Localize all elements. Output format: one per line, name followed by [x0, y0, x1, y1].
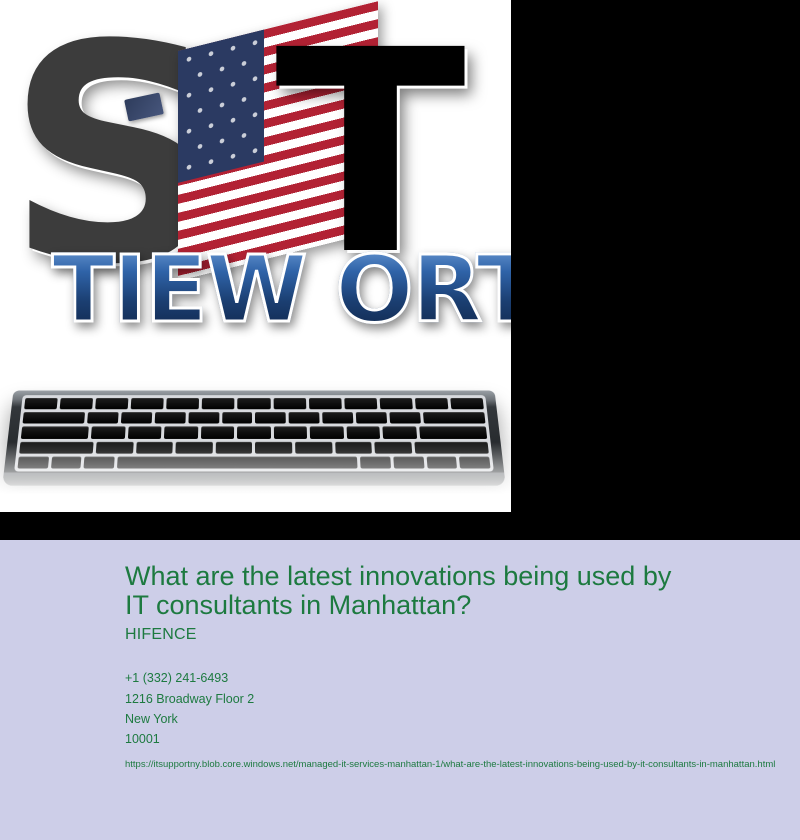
- keyboard-illustration: [2, 391, 505, 486]
- keyboard-key: [346, 427, 380, 439]
- contact-block: +1 (332) 241-6493 1216 Broadway Floor 2 …: [125, 668, 784, 776]
- page-title: What are the latest innovations being us…: [125, 562, 685, 620]
- keyboard-key: [459, 456, 490, 468]
- keyboard-key: [84, 456, 115, 468]
- keyboard-key: [426, 456, 457, 468]
- keyboard-key: [87, 412, 118, 424]
- keyboard-key: [24, 398, 58, 409]
- source-url-link[interactable]: https://itsupportny.blob.core.windows.ne…: [125, 754, 784, 776]
- keyboard-base: [2, 473, 505, 486]
- keyboard-key: [309, 398, 342, 409]
- keyboard-key: [60, 398, 94, 409]
- keyboard-key: [51, 456, 82, 468]
- keyboard-key: [379, 398, 412, 409]
- keyboard-key: [136, 441, 173, 453]
- keyboard-key: [295, 441, 332, 453]
- hero-band: S T TIEW ORT: [0, 0, 800, 540]
- keyboard-keys: [14, 395, 494, 471]
- keyboard-key: [202, 398, 235, 409]
- keyboard-key: [322, 412, 353, 424]
- keyboard-key: [360, 456, 391, 468]
- keyboard-key: [415, 398, 449, 409]
- keyboard-key: [255, 412, 286, 424]
- keyboard-key: [255, 441, 292, 453]
- contact-phone[interactable]: +1 (332) 241-6493: [125, 668, 784, 688]
- keyboard-key: [274, 427, 308, 439]
- contact-postal-code: 10001: [125, 729, 784, 749]
- logo-wordmark: TIEW ORT: [52, 244, 511, 336]
- keyboard-key: [188, 412, 219, 424]
- keyboard-key: [154, 412, 185, 424]
- keyboard-key: [19, 441, 94, 453]
- keyboard-key: [201, 427, 235, 439]
- keyboard-key: [289, 412, 320, 424]
- keyboard-key: [21, 427, 89, 439]
- keyboard-row: [24, 398, 484, 409]
- keyboard-key: [128, 427, 162, 439]
- keyboard-key: [22, 412, 84, 424]
- keyboard-key: [383, 427, 417, 439]
- keyboard-key: [423, 412, 485, 424]
- keyboard-key: [237, 427, 271, 439]
- keyboard-key: [166, 398, 199, 409]
- brand-name: HIFENCE: [125, 626, 784, 644]
- keyboard-space-key: [117, 456, 358, 468]
- keyboard-key: [390, 412, 421, 424]
- keyboard-key: [96, 441, 134, 453]
- contact-city: New York: [125, 709, 784, 729]
- keyboard-key: [222, 412, 253, 424]
- hero-logo-image: S T TIEW ORT: [0, 0, 511, 512]
- keyboard-key: [335, 441, 372, 453]
- content-panel: What are the latest innovations being us…: [0, 540, 800, 840]
- flag-canton: [178, 29, 264, 182]
- keyboard-key: [238, 398, 271, 409]
- keyboard-key: [216, 441, 253, 453]
- keyboard-row: [21, 427, 487, 439]
- keyboard-key: [374, 441, 412, 453]
- keyboard-key: [356, 412, 387, 424]
- keyboard-key: [450, 398, 484, 409]
- keyboard-key: [131, 398, 164, 409]
- keyboard-key: [164, 427, 198, 439]
- keyboard-key: [121, 412, 152, 424]
- keyboard-key: [91, 427, 125, 439]
- keyboard-key: [310, 427, 344, 439]
- keyboard-row: [19, 441, 489, 453]
- keyboard-key: [414, 441, 489, 453]
- keyboard-key: [344, 398, 377, 409]
- keyboard-key: [95, 398, 128, 409]
- content-inner: What are the latest innovations being us…: [125, 562, 784, 776]
- keyboard-key: [17, 456, 48, 468]
- keyboard-key: [419, 427, 487, 439]
- contact-street: 1216 Broadway Floor 2: [125, 689, 784, 709]
- keyboard-row: [22, 412, 485, 424]
- page-root: S T TIEW ORT: [0, 0, 800, 840]
- keyboard-key: [176, 441, 213, 453]
- keyboard-key: [393, 456, 424, 468]
- keyboard-key: [273, 398, 306, 409]
- keyboard-row: [17, 456, 490, 468]
